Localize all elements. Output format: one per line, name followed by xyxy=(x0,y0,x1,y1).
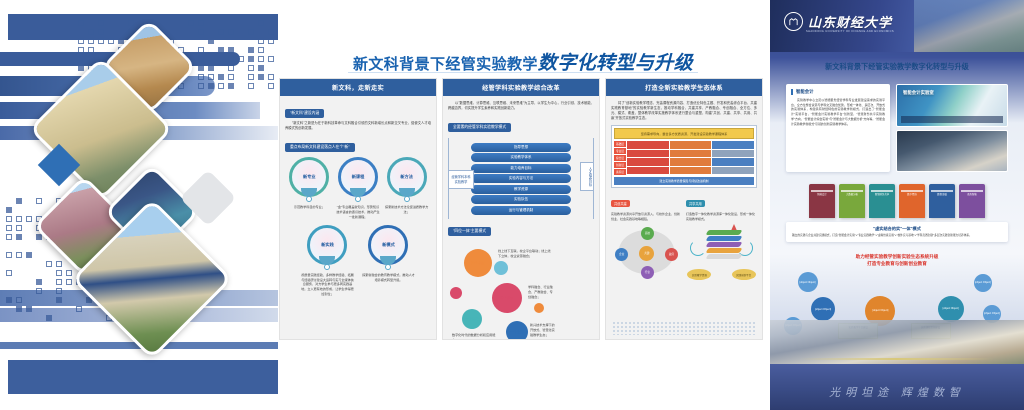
circle-shape: 新实践 xyxy=(307,225,347,265)
matrix-cell xyxy=(712,158,754,166)
gear-note: 学科融合、行业融合、产教融合、专创融合； xyxy=(528,285,554,299)
rollup-header: 山东财经大学 SHANDONG UNIVERSITY OF FINANCE AN… xyxy=(770,0,1024,52)
rollup-section-2: "虚实结合的实"一体"模式 确立的实践与企业共建实践模式，打造"智能会计实验"+… xyxy=(786,222,1008,242)
matrix-side-label: 创新层 xyxy=(614,162,626,168)
book-item: 数字经济 xyxy=(899,184,925,218)
column-2-pill-1: 全要素的经管学科实验教学模式 xyxy=(448,123,511,132)
circle-item-new-major: 新专业 示范教学科目的专业； xyxy=(286,157,333,219)
subsection-share-use: 共享共用 打造数字一体化教学资源库一体化建设，形成一体化实验教学模式。 xyxy=(686,192,757,280)
circle-label: 新实践 xyxy=(321,242,334,248)
university-name-cn: 山东财经大学 xyxy=(808,12,892,31)
rollup-title: 新文科背景下经管实验教学数字化转型与升级 xyxy=(770,62,1024,72)
book-label: 大数据分析 xyxy=(841,193,863,196)
book-row: 智能会计 大数据分析 智慧财务共享 数字经济 数智金融 商务智能 xyxy=(786,178,1008,218)
circle-label: 新专业 xyxy=(303,174,316,180)
matrix-cell xyxy=(670,141,712,149)
matrix-cell xyxy=(670,150,712,158)
column-3-header: 打造全新实验教学生态体系 xyxy=(606,79,762,96)
matrix-cell xyxy=(627,158,669,166)
gear-one-ability: 一种能力 xyxy=(462,309,482,329)
gear-note: 新兴技术支撑下的开放式、智慧化实验教学生态； xyxy=(530,323,556,337)
column-2-paragraph-1: 以"数据思维、计算思维、互联思维、未来思维"为主导，以学生为中心，行业引领、技术… xyxy=(448,101,594,111)
column-1-paragraph-1: "新文科"之新是为在于新科技革命与文科融合引领的文科新增长点和新交叉专业，促使文… xyxy=(285,121,431,131)
diagram-node-tl: [object Object] xyxy=(798,272,818,292)
flow-item: 教学资源 xyxy=(471,185,571,194)
stack-layer xyxy=(706,242,743,247)
gear-label: 四个维度 xyxy=(471,261,485,266)
flow-item: 能力培养目标 xyxy=(471,164,571,173)
subsection-text: 实验教学资源共享开放引资源入，与校外企业、创新创业、社会实践基地等相链。 xyxy=(611,212,682,221)
matrix-cells xyxy=(627,141,754,175)
matrix-column xyxy=(670,141,712,175)
flow-item: 实验教学体系 xyxy=(471,153,571,162)
column-comprehensive-reform: 经管学科实验教学综合改革 以"数据思维、计算思维、互联思维、未来思维"为主导，以… xyxy=(442,78,600,340)
layered-stack-diagram: 实验教学资源 实践创新平台 xyxy=(686,224,757,280)
matrix-cell xyxy=(670,158,712,166)
stack-layer xyxy=(706,254,743,259)
subsection-tag: 共创共建 xyxy=(611,200,630,207)
column-3-paragraph-1: 将了"创新实验教学理念、完善课程资源内容、打造优业特色主题、开发和完善综合平台、… xyxy=(611,101,757,121)
flow-item: 运行与管理机制 xyxy=(471,206,571,215)
gear-note: 数字化时代的数据分析和应用能力； xyxy=(452,333,498,339)
gear-decor-small-2 xyxy=(494,261,508,275)
diagram-node-left: [object Object] xyxy=(811,297,835,321)
gear-decor-small-3 xyxy=(534,303,544,313)
column-2-header: 经管学科实验教学综合改革 xyxy=(443,79,599,96)
circle-shape: 新方法 xyxy=(387,157,427,197)
flow-item: 指导思想 xyxy=(471,143,571,152)
circle-caption: 探索新融合的教育教学模式，推动人才培养模式转型升级。 xyxy=(360,273,416,282)
rollup-text-block: 智能会计 实验教学中心立足以智能服务经管学科专业发展建设需求的实验平台，全方位整… xyxy=(786,84,890,172)
flow-output-label: 人才培养目标 xyxy=(580,162,594,191)
diagram-title-line-2: 打造专业教育与创新创业教育 xyxy=(784,261,1010,268)
title-divider xyxy=(348,72,698,73)
network-diagram: 共建 高校 企业 政府 行业 xyxy=(611,224,682,280)
page-title: 新文科背景下经管实验教学数字化转型与升级 xyxy=(278,48,768,75)
diagram-title-line-1: 助力经管实验教学创新实验生态系统升级 xyxy=(784,254,1010,261)
right-rollup-panel: 山东财经大学 SHANDONG UNIVERSITY OF FINANCE AN… xyxy=(770,0,1024,410)
book-label: 数智金融 xyxy=(931,193,953,196)
page-title-emphasis: 数字化转型与升级 xyxy=(538,53,693,74)
gear-diagram: 四个维度 四个融合 一种能力 一个生态 线上线下互联，校企平台联动；线上线下立体… xyxy=(448,243,594,339)
university-motto: 光明坦途 辉煌数智 xyxy=(770,384,1024,400)
circle-row-bottom: 新实践 视质量实践经验、多样教学经验、拓展与经验研讨建设大运转与实习全媒体信息服… xyxy=(285,225,431,296)
book-item: 数智金融 xyxy=(929,184,955,218)
lab-photo-caption: 智能会计实验室 xyxy=(903,90,934,96)
circle-label: 新模式 xyxy=(382,242,395,248)
circle-item-new-practice: 新实践 视质量实践经验、多样教学经验、拓展与经验研讨建设大运转与实习全媒体信息服… xyxy=(299,225,355,296)
gear-label: 一种能力 xyxy=(465,317,479,322)
matrix-cell xyxy=(712,167,754,175)
matrix-side-label: 基础层 xyxy=(614,141,626,147)
diagram-node-tr: [object Object] xyxy=(974,274,992,292)
subsection-tag: 共享共用 xyxy=(686,200,705,207)
rollup-photo-stack: 智能会计实验室 xyxy=(896,84,1008,172)
gear-four-integrations: 四个融合 xyxy=(492,283,522,313)
matrix-top-banner: 坚持需求导向，整合多方优质资源，开发建设实验教学课程体系 xyxy=(614,128,754,139)
flow-input-label: 经管学科本科实验教学 xyxy=(448,170,474,189)
matrix-cell xyxy=(712,141,754,149)
book-item: 智能会计 xyxy=(809,184,835,218)
column-3-body: 将了"创新实验教学理念、完善课程资源内容、打造优业特色主题、开发和完善综合平台、… xyxy=(606,96,762,339)
footer-gold-divider xyxy=(800,358,994,360)
network-node-right: 政府 xyxy=(665,248,678,261)
circle-label: 新课程 xyxy=(352,174,365,180)
book-item: 智慧财务共享 xyxy=(869,184,895,218)
rollup-section-2-text: 确立的实践与企业共建实践模式，打造"智能会计实验"+"专业实践教学"+"虚拟仿真… xyxy=(792,234,1002,238)
circle-item-new-model: 新模式 探索新融合的教育教学模式，推动人才培养模式转型升级。 xyxy=(360,225,416,296)
stack-layer xyxy=(706,236,743,241)
gear-label: 四个融合 xyxy=(500,296,514,301)
diagram-title: 助力经管实验教学创新实验生态系统升级 打造专业教育与创新创业教育 xyxy=(784,254,1010,268)
matrix-side-label: 素养层 xyxy=(614,169,626,175)
column-1-body: "新文科"建设内涵 "新文科"之新是为在于新科技革命与文科融合引领的文科新增长点… xyxy=(280,96,436,339)
matrix-cell xyxy=(627,141,669,149)
oval-label-left: 实验教学资源 xyxy=(687,269,711,280)
circle-item-new-course: 新课程 "金"专业覆盖新知识，形势知识技术语言的通识技术，推动产生一批新课程； xyxy=(335,157,382,219)
flow-item: 实验内容与方法 xyxy=(471,174,571,183)
matrix-side-label: 综合层 xyxy=(614,155,626,161)
column-new-liberal-arts: 新文科，走新走实 "新文科"建设内涵 "新文科"之新是为在于新科技革命与文科融合… xyxy=(279,78,437,340)
decor-dot-texture xyxy=(612,321,756,335)
matrix-bottom-banner: 建立实验教学质量保障与持续改进机制 xyxy=(614,177,754,185)
header-campus-photo xyxy=(914,0,1024,52)
matrix-cell xyxy=(670,167,712,175)
book-label: 商务智能 xyxy=(961,193,983,196)
circle-item-new-method: 新方法 探索新技术方法论促进质教学方法； xyxy=(383,157,430,219)
circle-label: 新方法 xyxy=(400,174,413,180)
left-decoration-area xyxy=(0,0,278,410)
matrix-side-label: 专业层 xyxy=(614,148,626,154)
network-node-top: 高校 xyxy=(641,227,654,240)
gear-four-dimensions: 四个维度 xyxy=(464,249,492,277)
flow-item: 实验队伍 xyxy=(471,195,571,204)
decor-band-bottom xyxy=(8,360,278,394)
book-label: 智慧财务共享 xyxy=(871,193,893,196)
circle-shape: 新专业 xyxy=(289,157,329,197)
book-label: 数字经济 xyxy=(901,193,923,196)
oval-label-right: 实践创新平台 xyxy=(732,269,756,280)
stack-layer xyxy=(706,230,743,235)
book-item: 商务智能 xyxy=(959,184,985,218)
column-new-ecosystem: 打造全新实验教学生态体系 将了"创新实验教学理念、完善课程资源内容、打造优业特色… xyxy=(605,78,763,340)
matrix-cell xyxy=(627,150,669,158)
subsection-text: 打造数字一体化教学资源库一体化建设，形成一体化实验教学模式。 xyxy=(686,212,757,221)
gear-label: 一个生态 xyxy=(510,330,524,335)
lab-visit-group-photo xyxy=(896,130,1008,173)
circle-row-top: 新专业 示范教学科目的专业； 新课程 "金"专业覆盖新知识，形势知识技术语言的通… xyxy=(285,157,431,219)
university-name-en: SHANDONG UNIVERSITY OF FINANCE AND ECONO… xyxy=(806,30,894,33)
network-node-bottom: 行业 xyxy=(641,266,654,279)
circle-shape: 新课程 xyxy=(338,157,378,197)
matrix-side-labels: 基础层 专业层 综合层 创新层 素养层 xyxy=(614,141,626,175)
poster-canvas: 新文科背景下经管实验教学数字化转型与升级 新文科，走新走实 "新文科"建设内涵 … xyxy=(0,0,1024,410)
circle-caption: 探索新技术方法论促进质教学方法； xyxy=(383,205,430,214)
circle-shape: 新模式 xyxy=(368,225,408,265)
rollup-block-heading: 智能会计 xyxy=(791,89,885,95)
page-title-prefix: 新文科背景下经管实验教学 xyxy=(353,56,538,73)
lab-photo-caption-bar xyxy=(901,116,1003,123)
matrix-cell xyxy=(712,150,754,158)
gear-one-ecosystem: 一个生态 xyxy=(506,321,528,339)
gear-note: 线上线下互联，校企平台联动；线上线下立体，校企资源融合； xyxy=(498,249,552,258)
rollup-block-text: 实验教学中心立足以智能服务经管学科专业发展建设需求的实验平台，全方位整合资源与学… xyxy=(791,98,885,126)
arrow-curve-left-icon xyxy=(690,240,706,256)
subsection-co-create: 共创共建 实验教学资源共享开放引资源入，与校外企业、创新创业、社会实践基地等相链… xyxy=(611,192,682,280)
teaching-model-flowchart: 经管学科本科实验教学 人才培养目标 指导思想 实验教学体系 能力培养目标 实验内… xyxy=(448,138,594,219)
circle-caption: 视质量实践经验、多样教学经验、拓展与经验研讨建设大运转与实习全媒体信息服务，对方… xyxy=(299,273,355,296)
column-1-header: 新文科，走新走实 xyxy=(280,79,436,96)
network-node-center: 共建 xyxy=(639,246,654,261)
circle-caption: 示范教学科目的专业； xyxy=(286,205,333,210)
stack-layer xyxy=(706,248,743,253)
curriculum-matrix-diagram: 坚持需求导向，整合多方优质资源，开发建设实验教学课程体系 基础层 专业层 综合层… xyxy=(611,125,757,188)
rollup-section-2-heading: "虚实结合的实"一体"模式 xyxy=(792,226,1002,232)
column-2-body: 以"数据思维、计算思维、互联思维、未来思维"为主导，以学生为中心，行业引领、技术… xyxy=(443,96,599,339)
university-crest-icon xyxy=(784,12,803,31)
university-logo: 山东财经大学 xyxy=(784,12,892,31)
gear-decor-small-1 xyxy=(450,287,462,299)
network-node-left: 企业 xyxy=(615,248,628,261)
book-item: 大数据分析 xyxy=(839,184,865,218)
matrix-column xyxy=(627,141,669,175)
column-2-pill-2: "四位一体"主要模式 xyxy=(448,227,491,236)
book-label: 智能会计 xyxy=(811,193,833,196)
poster-columns: 新文科，走新走实 "新文科"建设内涵 "新文科"之新是为在于新科技革命与文科融合… xyxy=(274,78,768,340)
center-poster: 新文科背景下经管实验教学数字化转型与升级 新文科，走新走实 "新文科"建设内涵 … xyxy=(278,0,768,410)
diagram-node-right: [object Object] xyxy=(938,296,964,322)
column-1-pill-1: "新文科"建设内涵 xyxy=(285,109,324,118)
matrix-column xyxy=(712,141,754,175)
column-1-pill-2: 重点布局新文科建设落点人在个"新" xyxy=(285,143,355,152)
matrix-cell xyxy=(627,167,669,175)
smart-accounting-lab-signage-photo: 智能会计实验室 xyxy=(896,84,1008,127)
matrix-grid: 基础层 专业层 综合层 创新层 素养层 xyxy=(614,141,754,175)
ecosystem-subsections: 共创共建 实验教学资源共享开放引资源入，与校外企业、创新创业、社会实践基地等相链… xyxy=(611,192,757,280)
circle-caption: "金"专业覆盖新知识，形势知识技术语言的通识技术，推动产生一批新课程； xyxy=(335,205,382,219)
